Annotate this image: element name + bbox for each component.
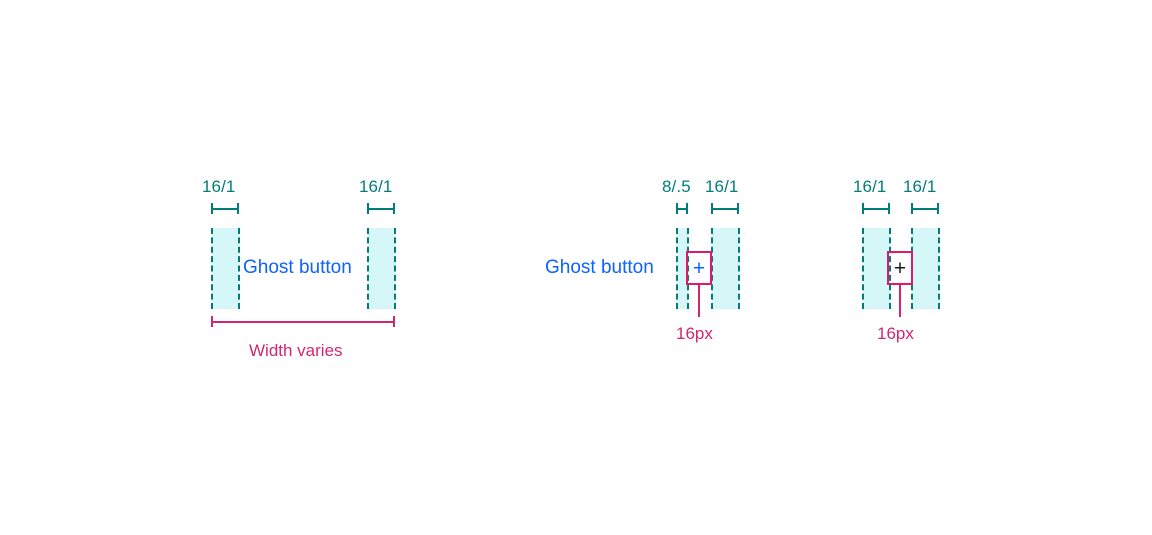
tick-cap-left xyxy=(911,203,913,214)
icononly-left-padding-band xyxy=(863,228,890,309)
spec-diagram-canvas: 16/1 16/1 Ghost button xyxy=(0,0,1152,535)
icononly-size-label: 16px xyxy=(877,325,914,342)
add-icon-box-only[interactable]: + xyxy=(887,251,913,285)
tick-cap-right xyxy=(888,203,890,214)
guide-right-outer xyxy=(938,228,940,309)
icononly-size-leader-line xyxy=(899,285,901,317)
tick-cap-right xyxy=(937,203,939,214)
icononly-right-padding-band xyxy=(912,228,939,309)
tick-cap-left xyxy=(862,203,864,214)
icononly-right-padding-tick xyxy=(911,203,939,214)
icononly-left-padding-spec-label: 16/1 xyxy=(853,178,887,195)
tick-bar xyxy=(862,208,890,210)
icononly-left-padding-tick xyxy=(862,203,890,214)
guide-left-outer xyxy=(862,228,864,309)
tick-bar xyxy=(911,208,939,210)
plus-icon: + xyxy=(894,258,906,279)
diagram-ghost-button-icon-only: 16/1 16/1 + 16px xyxy=(0,0,1000,380)
icononly-right-padding-spec-label: 16/1 xyxy=(903,178,937,195)
